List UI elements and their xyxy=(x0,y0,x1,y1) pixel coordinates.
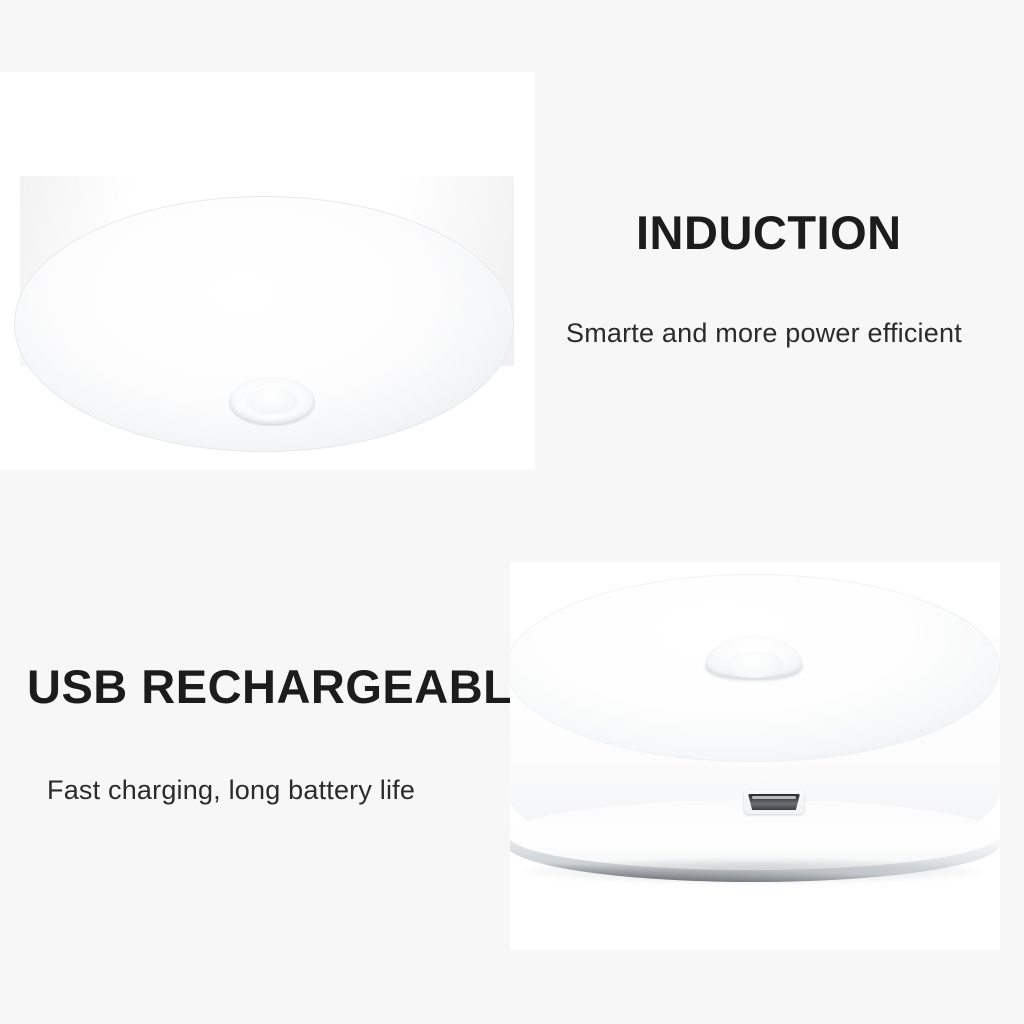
micro-usb-charging-port xyxy=(744,790,804,814)
usb-rechargeable-subheadline: Fast charging, long battery life xyxy=(47,777,415,804)
pir-motion-sensor-lens xyxy=(246,388,298,414)
induction-subheadline: Smarte and more power efficient xyxy=(566,320,962,347)
micro-usb-port-highlight xyxy=(752,796,796,799)
pir-motion-sensor-lens xyxy=(725,652,783,678)
induction-headline: INDUCTION xyxy=(636,209,902,256)
puck-contact-shadow xyxy=(522,860,984,884)
puck-light-topfront-illustration xyxy=(510,574,1000,926)
puck-light-underside-illustration xyxy=(2,96,532,456)
usb-rechargeable-headline: USB RECHARGEABLE xyxy=(27,663,544,710)
induction-product-photo-card xyxy=(0,72,535,470)
product-feature-collage: INDUCTION Smarte and more power efficien… xyxy=(0,0,1024,1024)
usb-rechargeable-product-photo-card xyxy=(510,562,1000,950)
